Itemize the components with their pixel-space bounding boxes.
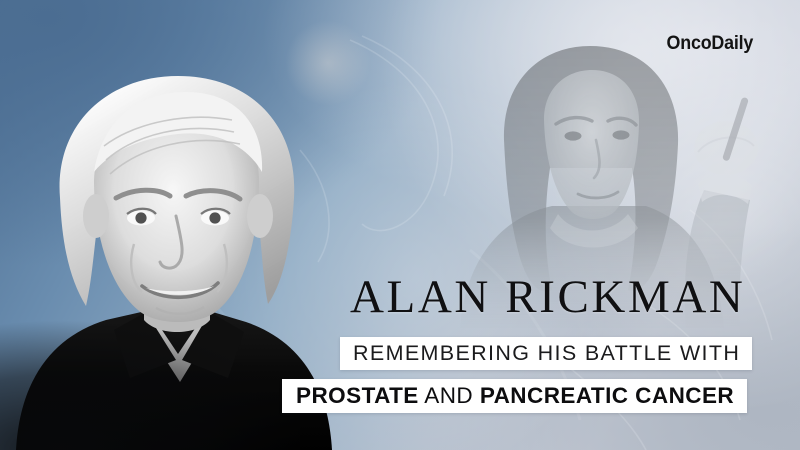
main-line-space-2 bbox=[473, 383, 480, 408]
main-line-text: PROSTATE AND PANCREATIC CANCER bbox=[296, 383, 734, 409]
main-line-conjunction: AND bbox=[424, 383, 473, 408]
main-line-segment-3: PANCREATIC CANCER bbox=[480, 383, 734, 408]
main-line-segment-1: PROSTATE bbox=[296, 383, 419, 408]
main-line-bar: PROSTATE AND PANCREATIC CANCER bbox=[282, 379, 747, 413]
page-title: ALAN RICKMAN bbox=[350, 272, 745, 322]
subtitle-bar: REMEMBERING HIS BATTLE WITH bbox=[340, 337, 752, 370]
oncodaily-logo[interactable]: OncoDaily bbox=[666, 33, 753, 55]
subtitle-text: REMEMBERING HIS BATTLE WITH bbox=[353, 341, 740, 366]
promo-banner: OncoDaily ALAN RICKMAN REMEMBERING HIS B… bbox=[0, 0, 800, 450]
